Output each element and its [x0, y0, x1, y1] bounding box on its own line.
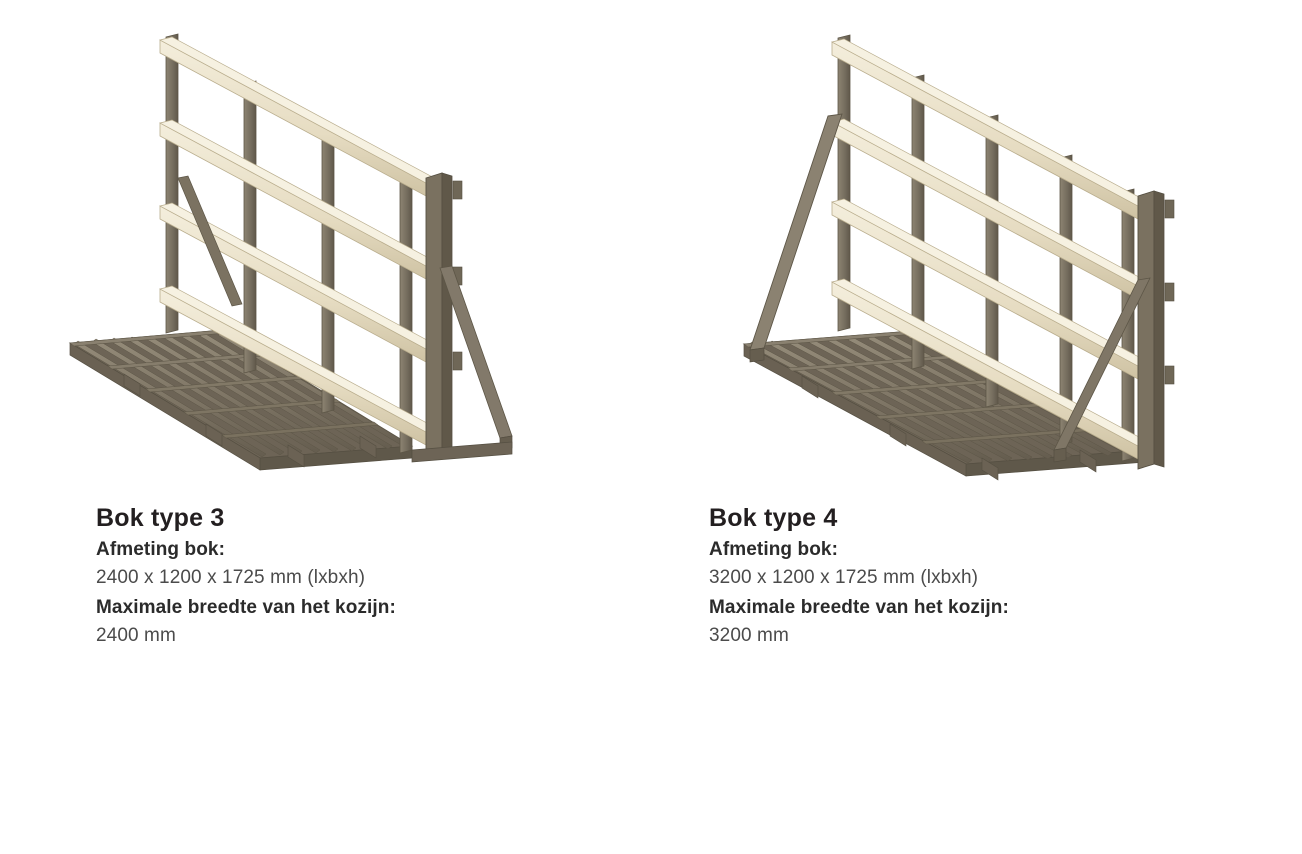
- frame-rail: [832, 122, 1138, 299]
- post-bracket-tab: [453, 181, 462, 199]
- a-frame-brace-left: [750, 114, 842, 362]
- page-title: Bok type 4: [709, 505, 1229, 531]
- dimension-label: Afmeting bok:: [709, 540, 1229, 561]
- main-post-body: [1138, 191, 1154, 469]
- inner-brace-foot: [1054, 448, 1066, 462]
- rack-drawing-type-3-svg: [60, 18, 560, 488]
- max-width-label: Maximale breedte van het kozijn:: [709, 598, 1229, 619]
- max-width-value: 2400 mm: [96, 626, 616, 647]
- a-frame-brace-body: [750, 114, 842, 350]
- main-post-right: [1138, 191, 1174, 469]
- page-root: Bok type 3 Afmeting bok: 2400 x 1200 x 1…: [0, 0, 1302, 854]
- max-width-label: Maximale breedte van het kozijn:: [96, 598, 616, 619]
- illustration-bok-type-3: [60, 18, 560, 488]
- frame-rail-top: [160, 120, 438, 266]
- caption-bok-type-3: Bok type 3 Afmeting bok: 2400 x 1200 x 1…: [96, 505, 616, 647]
- frame-rail: [832, 42, 1138, 219]
- page-title: Bok type 3: [96, 505, 616, 531]
- dimension-value: 3200 x 1200 x 1725 mm (lxbxh): [709, 568, 1229, 589]
- a-frame-brace-foot: [750, 348, 764, 362]
- caption-bok-type-4: Bok type 4 Afmeting bok: 3200 x 1200 x 1…: [709, 505, 1229, 647]
- post-bracket-tab: [1165, 283, 1174, 301]
- max-width-value: 3200 mm: [709, 626, 1229, 647]
- frame-rail: [160, 123, 426, 279]
- post-bracket-tab: [1165, 366, 1174, 384]
- illustration-bok-type-4: [716, 18, 1246, 488]
- main-post-side: [442, 173, 452, 457]
- dimension-label: Afmeting bok:: [96, 540, 616, 561]
- post-bracket-tab: [453, 352, 462, 370]
- main-post-body: [426, 173, 442, 459]
- main-post-side: [1154, 191, 1164, 467]
- frame-rail-top: [160, 37, 438, 183]
- rack-drawing-type-4-svg: [716, 18, 1246, 488]
- post-bracket-tab: [1165, 200, 1174, 218]
- frame-rail: [160, 40, 426, 196]
- dimension-value: 2400 x 1200 x 1725 mm (lxbxh): [96, 568, 616, 589]
